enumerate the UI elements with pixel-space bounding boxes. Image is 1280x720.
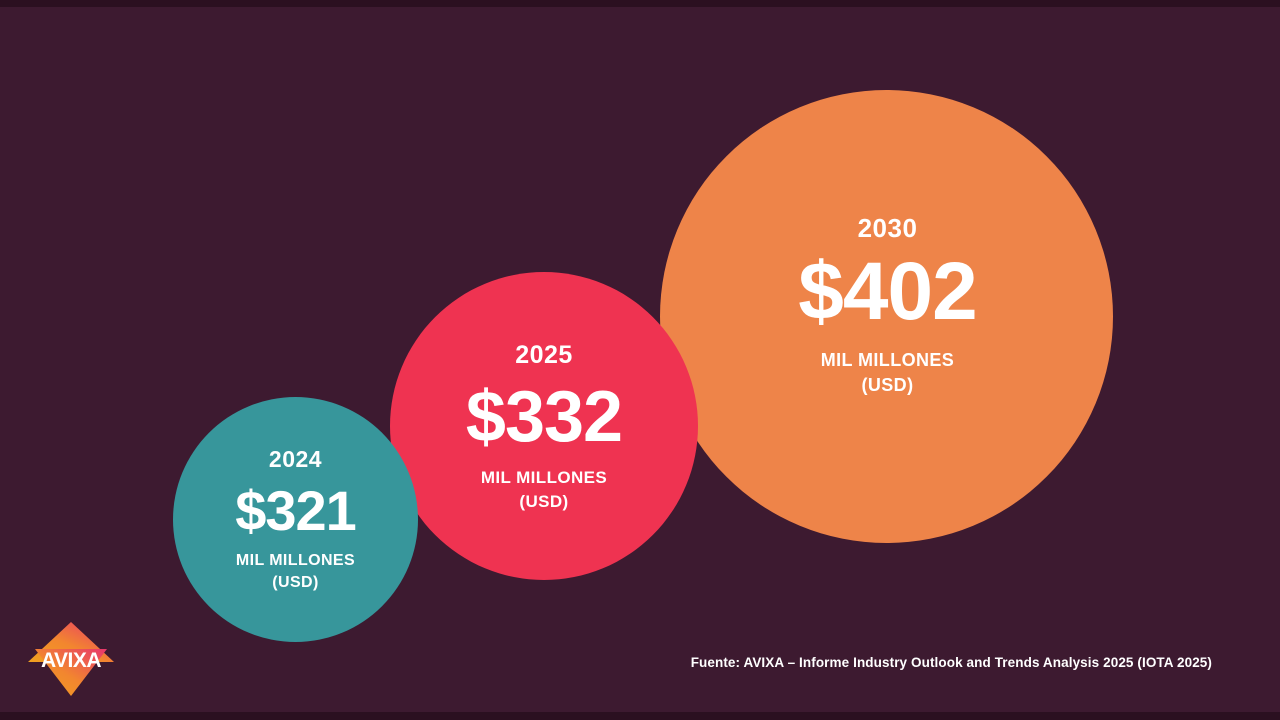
bubble-2024-currency: (USD) <box>272 575 318 591</box>
slide-canvas: 2030 $402 MIL MILLONES (USD) 2025 $332 M… <box>0 0 1280 720</box>
bubble-2025-amount: $332 <box>466 381 622 453</box>
avixa-logo: AVIXA <box>26 616 116 702</box>
bubble-2030-text-stack: 2030 $402 MIL MILLONES (USD) <box>798 215 976 394</box>
bubble-2024-unit: MIL MILLONES <box>236 553 355 569</box>
bubble-2030-amount: $402 <box>798 251 976 333</box>
logo-wordmark: AVIXA <box>41 649 101 672</box>
avixa-logo-mark: AVIXA <box>26 616 116 702</box>
bubble-2025-year: 2025 <box>515 343 573 368</box>
source-note: Fuente: AVIXA – Informe Industry Outlook… <box>691 655 1212 670</box>
bubble-2025-unit: MIL MILLONES <box>481 469 607 486</box>
bubble-2024-amount: $321 <box>235 483 356 539</box>
bottom-edge-band <box>0 712 1280 720</box>
bubble-2030: 2030 $402 MIL MILLONES (USD) <box>660 90 1113 543</box>
bubble-2030-unit: MIL MILLONES <box>821 351 954 369</box>
bubble-2030-year: 2030 <box>858 215 918 241</box>
top-edge-band <box>0 0 1280 7</box>
bubble-2025: 2025 $332 MIL MILLONES (USD) <box>390 272 698 580</box>
bubble-2025-currency: (USD) <box>519 493 568 510</box>
bubble-2030-currency: (USD) <box>861 376 913 394</box>
bubble-2024-year: 2024 <box>269 448 322 471</box>
bubble-2024: 2024 $321 MIL MILLONES (USD) <box>173 397 418 642</box>
